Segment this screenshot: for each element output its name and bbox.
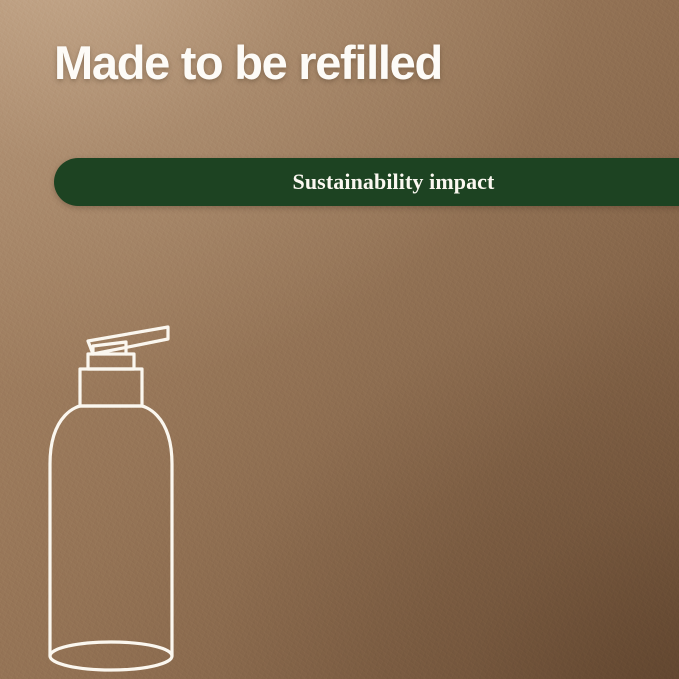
page-title: Made to be refilled [54,38,679,88]
status-badge: Sustainability impact [54,158,679,206]
promo-graphic: Made to be refilled Sustainability impac… [0,0,679,679]
status-badge-label: Sustainability impact [293,169,495,195]
pump-bottle-outline-icon [38,316,218,679]
pump-bottle-illustration [38,316,218,679]
